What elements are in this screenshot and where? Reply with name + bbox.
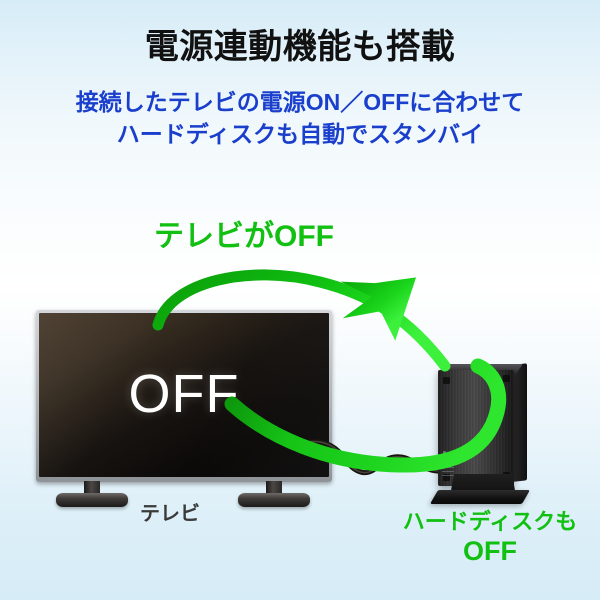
promo-illustration: 電源連動機能も搭載 接続したテレビの電源ON／OFFに合わせて ハードディスクも… xyxy=(0,0,600,600)
hdd-corner-screw-tl xyxy=(443,377,450,384)
callout-hdd-off: ハードディスクも OFF xyxy=(385,510,595,566)
hdd-status-led xyxy=(443,451,446,457)
callout-tv-off: テレビがOFF xyxy=(139,220,349,254)
hard-disk-drive-illustration xyxy=(432,362,528,507)
hdd-side-panel xyxy=(514,363,527,482)
hdd-corner-screw-tr xyxy=(503,375,510,382)
hdd-stand-base xyxy=(430,490,530,504)
hdd-vent-grille xyxy=(442,463,454,477)
callout-hdd-off-line2: OFF xyxy=(385,536,595,566)
callout-hdd-off-line1: ハードディスクも xyxy=(403,509,577,534)
